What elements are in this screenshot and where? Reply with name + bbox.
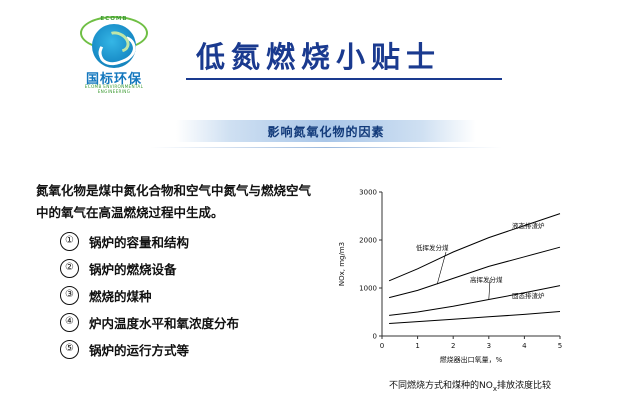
logo-name-en: ECOMB ENVIRONMENTAL ENGINEERING [72,84,156,94]
x-tick-label: 3 [487,342,491,350]
list-item-number: ⑤ [60,340,79,359]
y-axis-title: NOx, mg/m3 [338,242,346,286]
list-item: ① 锅炉的容量和结构 [60,228,340,255]
x-tick-label: 0 [380,342,384,350]
list-item: ③ 燃烧的煤种 [60,282,340,309]
chart-annotation: 低挥发分煤 [416,243,449,252]
factor-list: ① 锅炉的容量和结构 ② 锅炉的燃烧设备 ③ 燃烧的煤种 ④ 炉内温度水平和氧浓… [60,228,340,363]
list-item-label: 锅炉的容量和结构 [89,232,189,251]
chart-svg: 0100020003000012345NOx, mg/m3燃烧器出口氧量，%液态… [330,178,610,378]
chart-caption-text: 不同燃烧方式和煤种的NO [389,381,493,391]
x-tick-label: 2 [451,342,455,350]
list-item-number: ④ [60,313,79,332]
y-tick-label: 3000 [359,189,377,197]
chart-series-line [389,247,560,297]
x-tick-label: 1 [415,342,419,350]
subtitle-text: 影响氮氧化物的因素 [176,123,476,140]
page-title: 低氮燃烧小贴士 [196,34,441,76]
y-tick-label: 1000 [359,285,377,293]
nox-emission-chart: 0100020003000012345NOx, mg/m3燃烧器出口氧量，%液态… [330,178,610,398]
subtitle-divider [150,147,502,148]
chart-annotation: 高挥发分煤 [470,275,503,284]
list-item-number: ③ [60,286,79,305]
chart-annotation: 固态排渣炉 [512,291,545,300]
list-item-label: 炉内温度水平和氧浓度分布 [89,313,239,332]
title-underline [186,78,502,80]
list-item: ② 锅炉的燃烧设备 [60,255,340,282]
list-item-label: 锅炉的运行方式等 [89,340,189,359]
chart-series-line [389,312,560,324]
y-tick-label: 2000 [359,237,377,245]
slide: ECOMB 国标环保 ECOMB ENVIRONMENTAL ENGINEERI… [0,0,640,417]
logo: ECOMB 国标环保 ECOMB ENVIRONMENTAL ENGINEERI… [72,14,162,94]
body-paragraph: 氮氧化物是煤中氮化合物和空气中氮气与燃烧空气中的氧气在高温燃烧过程中生成。 [36,180,322,224]
y-tick-label: 0 [373,333,377,341]
list-item-number: ① [60,232,79,251]
list-item-label: 燃烧的煤种 [89,286,152,305]
logo-globe-icon [92,24,136,68]
chart-annotation: 液态排渣炉 [512,221,545,230]
x-tick-label: 5 [558,342,562,350]
list-item-number: ② [60,259,79,278]
logo-ring-text: ECOMB [72,16,156,22]
x-tick-label: 4 [522,342,527,350]
x-axis-title: 燃烧器出口氧量，% [440,355,503,364]
list-item: ⑤ 锅炉的运行方式等 [60,336,340,363]
list-item: ④ 炉内温度水平和氧浓度分布 [60,309,340,336]
list-item-label: 锅炉的燃烧设备 [89,259,177,278]
chart-series-line [389,286,560,316]
annotation-leader-line [437,252,446,284]
chart-caption: 不同燃烧方式和煤种的NOx排放浓度比较 [330,378,610,393]
